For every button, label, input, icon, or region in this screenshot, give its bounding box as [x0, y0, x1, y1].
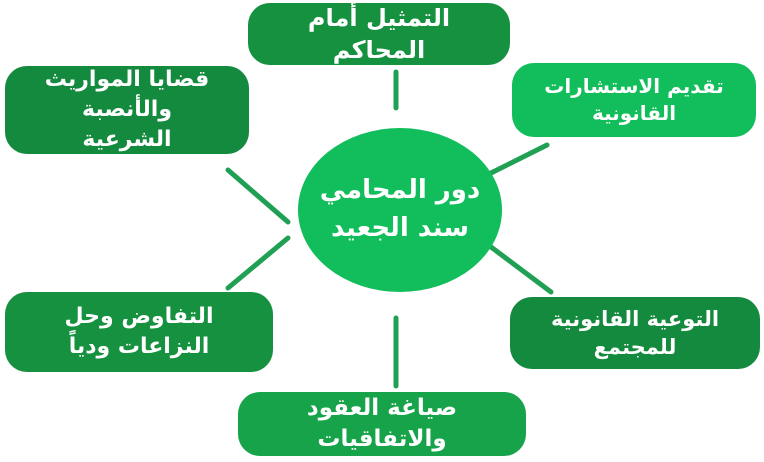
- node-negotiation-dispute-resolution[interactable]: التفاوض وحل النزاعات ودياً: [5, 292, 273, 372]
- diagram-canvas: التمثيل أمام المحاكم تقديم الاستشارات ال…: [0, 0, 764, 462]
- center-node-line-2: سند الجعيد: [331, 210, 469, 248]
- node-inheritance-cases[interactable]: قضايا المواريث والأنصبة الشرعية: [5, 66, 249, 154]
- center-node[interactable]: دور المحامي سند الجعيد: [298, 128, 502, 292]
- connector-center-to-top-left: [228, 170, 288, 222]
- node-representation-before-courts[interactable]: التمثيل أمام المحاكم: [248, 3, 510, 65]
- center-node-line-1: دور المحامي: [320, 172, 481, 210]
- node-legal-consultations[interactable]: تقديم الاستشارات القانونية: [512, 63, 756, 137]
- connector-center-to-top-right: [487, 145, 547, 175]
- connector-center-to-bottom-left: [228, 238, 288, 288]
- connector-center-to-bottom-right: [491, 247, 551, 292]
- node-community-legal-awareness[interactable]: التوعية القانونية للمجتمع: [510, 297, 760, 369]
- node-contract-drafting[interactable]: صياغة العقود والاتفاقيات: [238, 392, 526, 456]
